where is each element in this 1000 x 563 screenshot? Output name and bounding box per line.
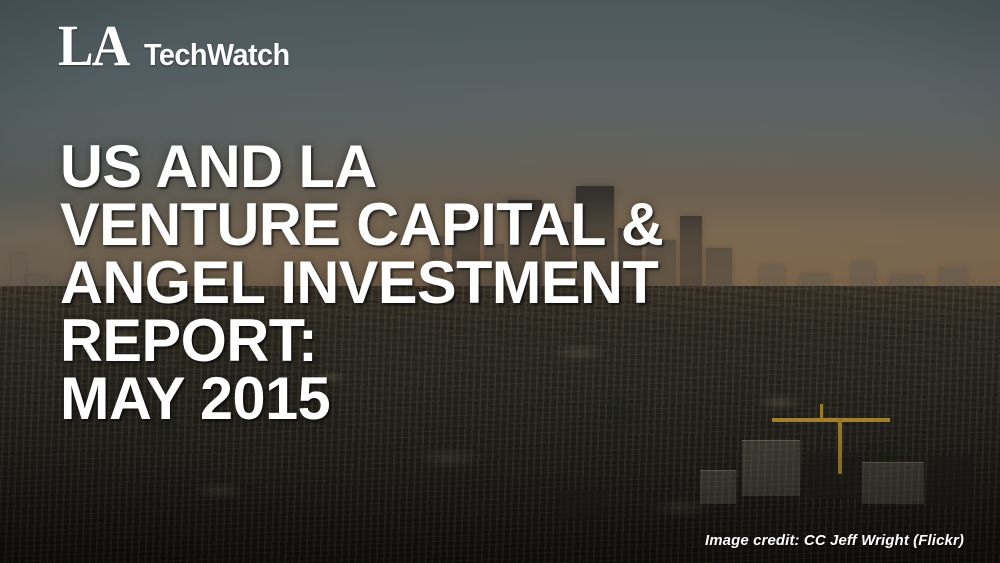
title-line: MAY 2015 xyxy=(60,370,951,428)
logo-la-mark: LA xyxy=(58,18,128,75)
page-title: US AND LA VENTURE CAPITAL & ANGEL INVEST… xyxy=(60,138,960,428)
title-line: REPORT: xyxy=(60,312,951,370)
presentation-slide: LA TechWatch US AND LA VENTURE CAPITAL &… xyxy=(0,0,1000,563)
title-line: VENTURE CAPITAL & xyxy=(60,196,951,254)
logo-wordmark: TechWatch xyxy=(144,39,290,70)
la-techwatch-logo: LA TechWatch xyxy=(58,18,300,75)
slide-content: LA TechWatch US AND LA VENTURE CAPITAL &… xyxy=(0,0,1000,563)
image-credit: Image credit: CC Jeff Wright (Flickr) xyxy=(705,532,964,549)
title-line: US AND LA xyxy=(60,138,951,196)
title-line: ANGEL INVESTMENT xyxy=(60,254,951,312)
